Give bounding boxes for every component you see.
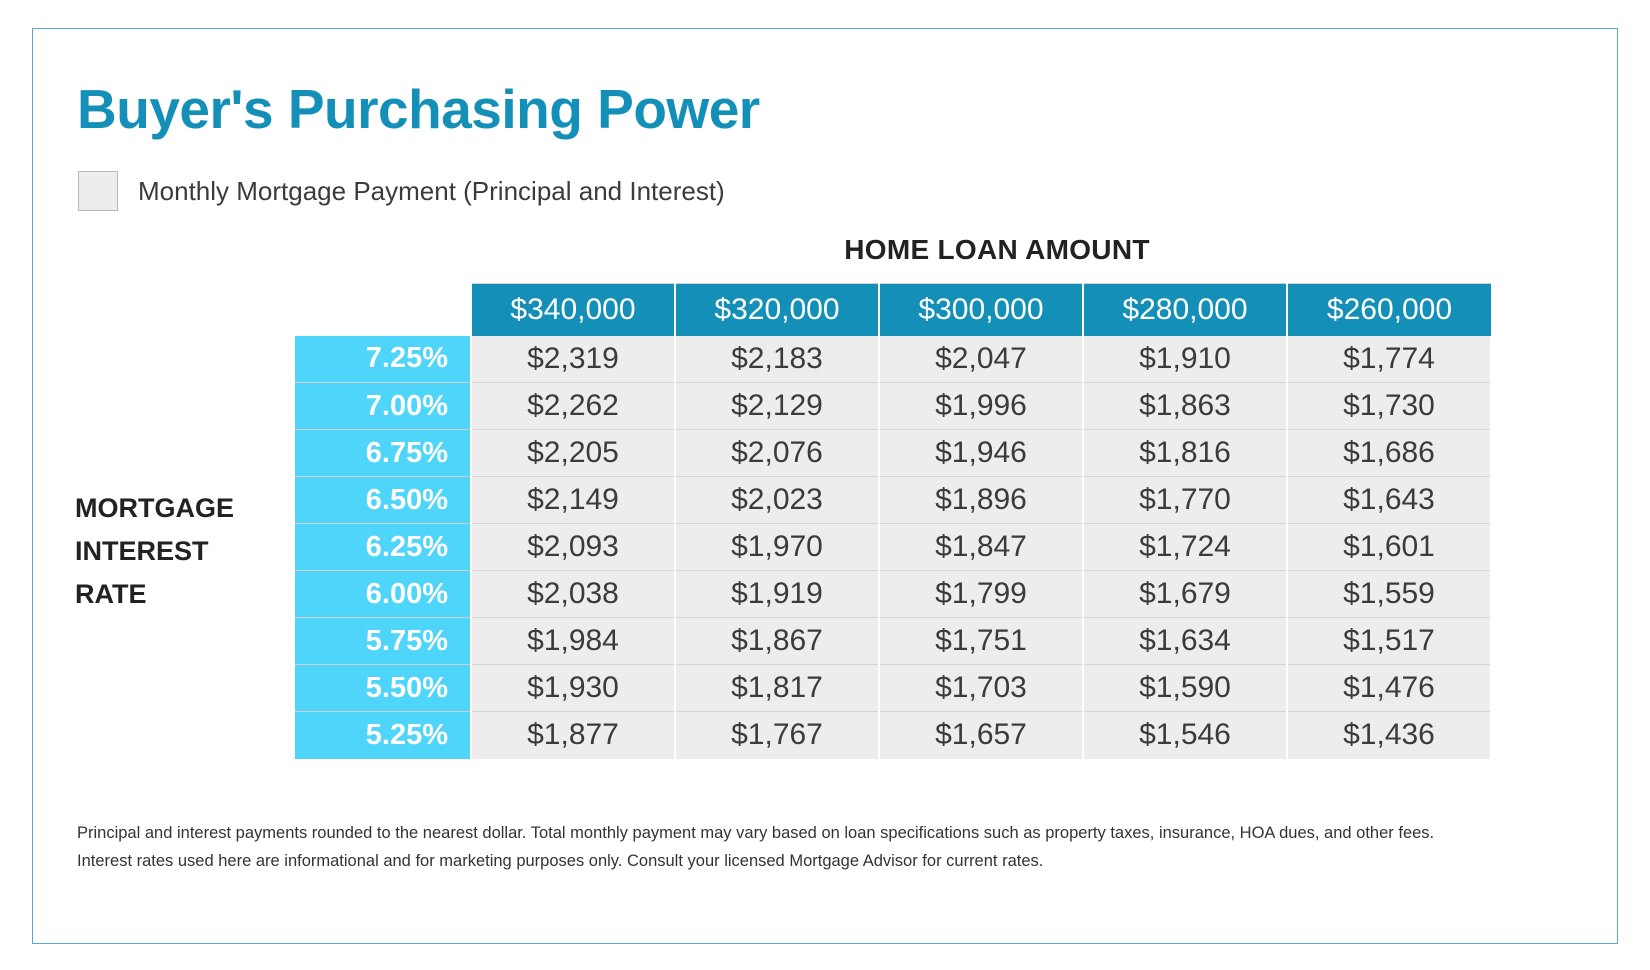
table-row: 5.50%$1,930$1,817$1,703$1,590$1,476	[295, 665, 1491, 712]
payment-cell: $1,546	[1083, 712, 1287, 759]
payment-cell: $1,657	[879, 712, 1083, 759]
row-axis-title-line-3: RATE	[75, 573, 325, 616]
payment-cell: $1,946	[879, 430, 1083, 477]
footnotes: Principal and interest payments rounded …	[77, 819, 1434, 875]
table-header-row: $340,000$320,000$300,000$280,000$260,000	[295, 284, 1491, 336]
payment-cell: $1,919	[675, 571, 879, 618]
payment-cell: $1,436	[1287, 712, 1491, 759]
table-row: 5.25%$1,877$1,767$1,657$1,546$1,436	[295, 712, 1491, 759]
payment-cell: $1,751	[879, 618, 1083, 665]
payment-cell: $1,816	[1083, 430, 1287, 477]
row-header-interest-rate: 5.25%	[295, 712, 471, 759]
table-row: 7.00%$2,262$2,129$1,996$1,863$1,730	[295, 383, 1491, 430]
payment-cell: $1,730	[1287, 383, 1491, 430]
payment-cell: $1,877	[471, 712, 675, 759]
column-header-loan-amount: $320,000	[675, 284, 879, 336]
payment-cell: $1,847	[879, 524, 1083, 571]
row-header-interest-rate: 6.25%	[295, 524, 471, 571]
legend: Monthly Mortgage Payment (Principal and …	[78, 171, 725, 211]
row-header-interest-rate: 6.75%	[295, 430, 471, 477]
row-header-interest-rate: 6.00%	[295, 571, 471, 618]
payment-cell: $1,476	[1287, 665, 1491, 712]
table-row: 6.00%$2,038$1,919$1,799$1,679$1,559	[295, 571, 1491, 618]
payment-cell: $1,634	[1083, 618, 1287, 665]
row-header-interest-rate: 7.25%	[295, 336, 471, 383]
column-header-loan-amount: $280,000	[1083, 284, 1287, 336]
payment-matrix-table: $340,000$320,000$300,000$280,000$260,000…	[295, 283, 1492, 759]
payment-cell: $1,643	[1287, 477, 1491, 524]
row-header-interest-rate: 6.50%	[295, 477, 471, 524]
payment-cell: $2,129	[675, 383, 879, 430]
payment-cell: $1,896	[879, 477, 1083, 524]
payment-cell: $2,183	[675, 336, 879, 383]
payment-cell: $1,770	[1083, 477, 1287, 524]
payment-cell: $1,601	[1287, 524, 1491, 571]
table-row: 7.25%$2,319$2,183$2,047$1,910$1,774	[295, 336, 1491, 383]
footnote-line-1: Principal and interest payments rounded …	[77, 819, 1434, 847]
payment-cell: $2,038	[471, 571, 675, 618]
legend-swatch-icon	[78, 171, 118, 211]
column-header-loan-amount: $300,000	[879, 284, 1083, 336]
row-axis-title: MORTGAGE INTEREST RATE	[75, 487, 325, 616]
payment-cell: $2,319	[471, 336, 675, 383]
payment-cell: $1,863	[1083, 383, 1287, 430]
payment-cell: $2,149	[471, 477, 675, 524]
payment-cell: $2,076	[675, 430, 879, 477]
payment-cell: $1,767	[675, 712, 879, 759]
purchasing-power-card: Buyer's Purchasing Power Monthly Mortgag…	[32, 28, 1618, 944]
payment-cell: $1,996	[879, 383, 1083, 430]
row-header-interest-rate: 5.75%	[295, 618, 471, 665]
payment-cell: $1,799	[879, 571, 1083, 618]
payment-cell: $2,023	[675, 477, 879, 524]
row-header-interest-rate: 7.00%	[295, 383, 471, 430]
payment-cell: $1,910	[1083, 336, 1287, 383]
payment-cell: $2,093	[471, 524, 675, 571]
table-corner-cell	[295, 284, 471, 336]
payment-matrix: $340,000$320,000$300,000$280,000$260,000…	[295, 283, 1492, 759]
table-row: 6.50%$2,149$2,023$1,896$1,770$1,643	[295, 477, 1491, 524]
payment-cell: $2,262	[471, 383, 675, 430]
table-row: 5.75%$1,984$1,867$1,751$1,634$1,517	[295, 618, 1491, 665]
payment-cell: $1,970	[675, 524, 879, 571]
row-header-interest-rate: 5.50%	[295, 665, 471, 712]
payment-cell: $1,559	[1287, 571, 1491, 618]
payment-cell: $1,817	[675, 665, 879, 712]
page-title: Buyer's Purchasing Power	[77, 77, 760, 141]
payment-cell: $1,517	[1287, 618, 1491, 665]
payment-cell: $1,930	[471, 665, 675, 712]
row-axis-title-line-1: MORTGAGE	[75, 487, 325, 530]
payment-cell: $1,774	[1287, 336, 1491, 383]
payment-cell: $1,686	[1287, 430, 1491, 477]
row-axis-title-line-2: INTEREST	[75, 530, 325, 573]
column-header-loan-amount: $260,000	[1287, 284, 1491, 336]
payment-cell: $1,984	[471, 618, 675, 665]
payment-cell: $2,047	[879, 336, 1083, 383]
payment-cell: $1,679	[1083, 571, 1287, 618]
column-axis-title: HOME LOAN AMOUNT	[467, 234, 1527, 266]
legend-label: Monthly Mortgage Payment (Principal and …	[138, 176, 725, 207]
table-row: 6.25%$2,093$1,970$1,847$1,724$1,601	[295, 524, 1491, 571]
column-header-loan-amount: $340,000	[471, 284, 675, 336]
payment-cell: $1,703	[879, 665, 1083, 712]
payment-cell: $2,205	[471, 430, 675, 477]
table-row: 6.75%$2,205$2,076$1,946$1,816$1,686	[295, 430, 1491, 477]
footnote-line-2: Interest rates used here are information…	[77, 847, 1434, 875]
payment-cell: $1,590	[1083, 665, 1287, 712]
payment-cell: $1,724	[1083, 524, 1287, 571]
payment-cell: $1,867	[675, 618, 879, 665]
